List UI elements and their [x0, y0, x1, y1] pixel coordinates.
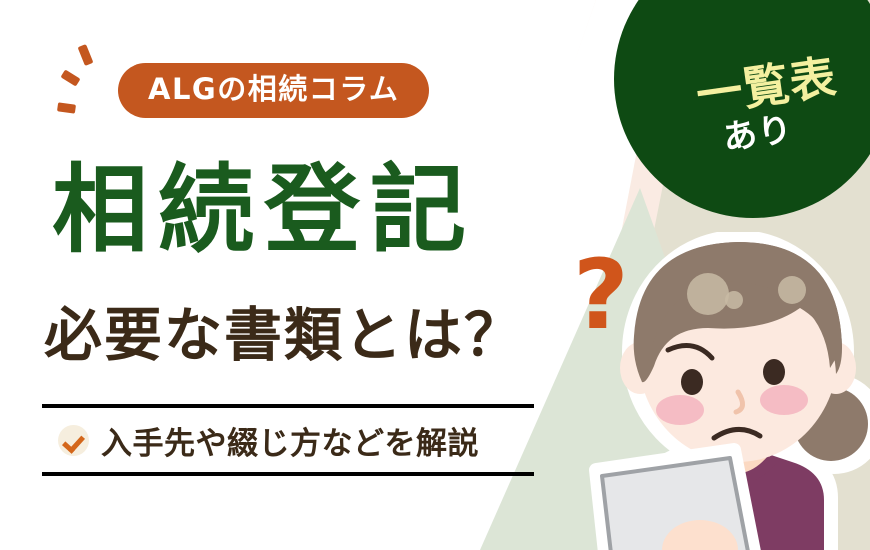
banner-canvas: 一覧表 あり ALGの相続コラム 相続登記 必要な書類とは？ 入手先や綴じ方など… — [0, 0, 870, 550]
hair-highlight-3 — [778, 276, 806, 304]
woman-illustration — [588, 232, 870, 550]
eye-right — [763, 359, 785, 385]
eye-left — [681, 369, 703, 395]
hair-highlight-1 — [687, 273, 729, 315]
rule-bottom — [42, 472, 534, 476]
blush-left — [656, 395, 704, 425]
hair-highlight-2 — [725, 291, 743, 309]
lead-band: 入手先や綴じ方などを解説 — [42, 404, 534, 476]
blush-right — [760, 385, 808, 415]
check-circle-icon — [58, 425, 89, 456]
category-tag[interactable]: ALGの相続コラム — [118, 63, 429, 118]
corner-badge: 一覧表 あり — [614, 0, 870, 218]
corner-badge-line2: あり — [721, 112, 795, 155]
category-tag-label: ALGの相続コラム — [118, 63, 429, 118]
page-subtitle: 必要な書類とは？ — [44, 306, 524, 364]
corner-badge-line1: 一覧表 — [693, 53, 839, 118]
lead-row: 入手先や綴じ方などを解説 — [42, 408, 534, 472]
corner-badge-content: 一覧表 あり — [614, 0, 870, 218]
page-title: 相続登記 — [52, 160, 476, 261]
lead-text: 入手先や綴じ方などを解説 — [101, 418, 479, 463]
